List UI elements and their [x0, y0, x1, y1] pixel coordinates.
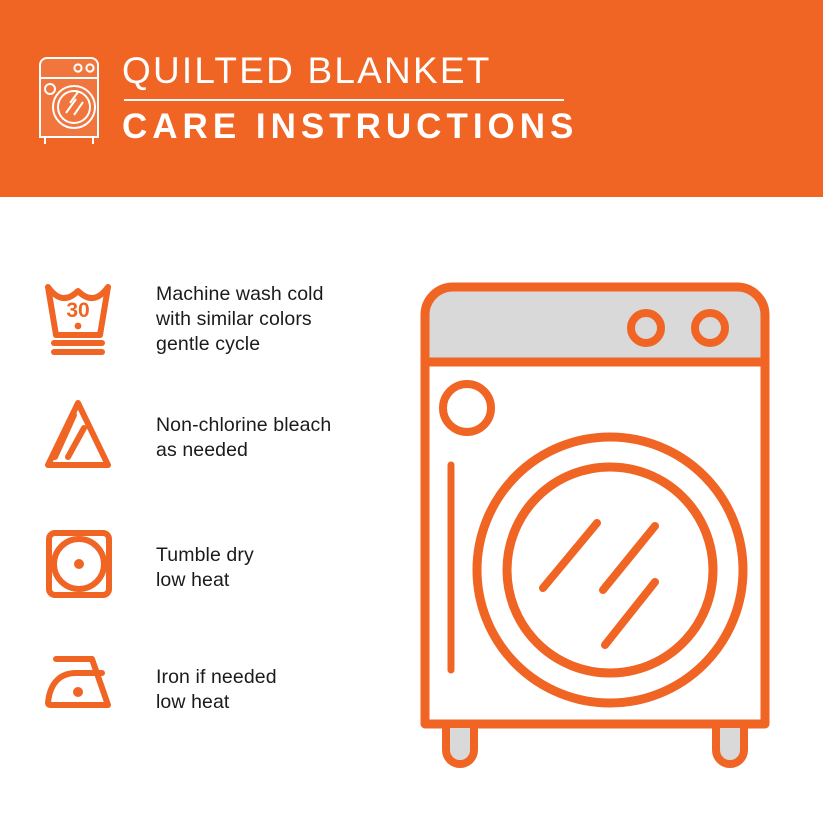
care-instruction-text-wash: Machine wash cold with similar colors ge…: [156, 282, 324, 357]
care-text-line: Iron if needed: [156, 665, 277, 690]
care-instruction-list: 30 Machine wash cold with similar colors…: [0, 197, 400, 823]
title-divider: [124, 99, 564, 101]
care-text-line: Machine wash cold: [156, 282, 324, 307]
care-instruction-text-bleach: Non-chlorine bleach as needed: [156, 413, 331, 463]
care-text-line: as needed: [156, 438, 331, 463]
page-subtitle: CARE INSTRUCTIONS: [122, 107, 578, 147]
dry-heat-dot-icon: [74, 559, 84, 569]
care-instruction-item-iron: Iron if needed low heat: [40, 645, 390, 729]
care-instruction-item-bleach: Non-chlorine bleach as needed: [40, 395, 390, 479]
detergent-dial[interactable]: [443, 384, 491, 432]
leg-right: [716, 724, 744, 764]
washing-machine-icon: [32, 51, 106, 147]
wash-dot-icon: [75, 323, 82, 330]
tumble-dry-icon: [40, 525, 132, 609]
front-load-washing-machine: [405, 270, 805, 770]
leg-left: [446, 724, 474, 764]
care-text-line: low heat: [156, 568, 254, 593]
control-panel: [425, 287, 765, 362]
header-banner: QUILTED BLANKET CARE INSTRUCTIONS: [0, 0, 823, 197]
care-text-line: Non-chlorine bleach: [156, 413, 331, 438]
iron-heat-dot-icon: [73, 687, 83, 697]
care-instruction-item-dry: Tumble dry low heat: [40, 525, 390, 609]
wash-tub-30-icon: 30: [40, 275, 132, 359]
bleach-triangle-icon: [40, 395, 132, 479]
door-outer-ring[interactable]: [477, 437, 743, 703]
page-title: QUILTED BLANKET: [122, 50, 578, 92]
care-text-line: Tumble dry: [156, 543, 254, 568]
care-instruction-item-wash: 30 Machine wash cold with similar colors…: [40, 275, 390, 359]
door-highlights: [543, 523, 655, 645]
care-text-line: low heat: [156, 690, 277, 715]
care-instruction-text-dry: Tumble dry low heat: [156, 543, 254, 593]
header-title-group: QUILTED BLANKET CARE INSTRUCTIONS: [122, 48, 578, 147]
wash-temperature-label: 30: [66, 299, 89, 322]
iron-icon: [40, 645, 132, 729]
care-text-line: gentle cycle: [156, 332, 324, 357]
header-content: QUILTED BLANKET CARE INSTRUCTIONS: [32, 48, 578, 147]
care-instruction-text-iron: Iron if needed low heat: [156, 665, 277, 715]
care-text-line: with similar colors: [156, 307, 324, 332]
